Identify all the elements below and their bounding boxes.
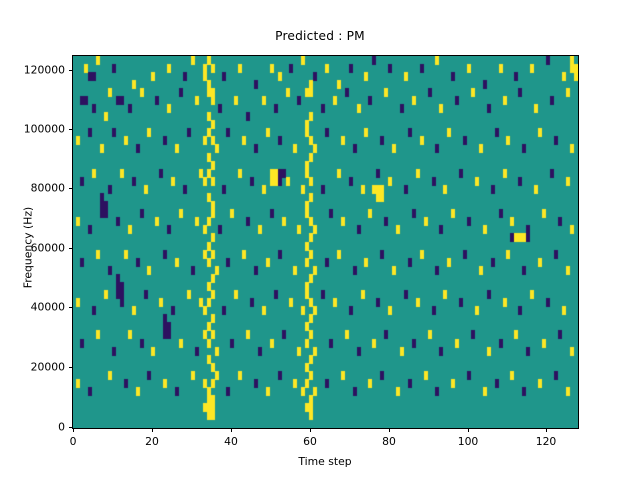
x-tick-label: 100 bbox=[458, 435, 479, 448]
y-tick-mark bbox=[69, 188, 73, 189]
x-tick-label: 60 bbox=[303, 435, 317, 448]
y-axis-label: Frequency (Hz) bbox=[22, 168, 35, 328]
y-tick-mark bbox=[69, 367, 73, 368]
y-tick-mark bbox=[69, 129, 73, 130]
heatmap-grid bbox=[73, 56, 578, 428]
x-tick-mark bbox=[231, 428, 232, 432]
x-tick-label: 80 bbox=[382, 435, 396, 448]
x-tick-mark bbox=[73, 428, 74, 432]
y-tick-label: 100000 bbox=[0, 123, 65, 136]
y-tick-mark bbox=[69, 70, 73, 71]
x-tick-mark bbox=[310, 428, 311, 432]
y-tick-mark bbox=[69, 307, 73, 308]
y-tick-mark bbox=[69, 427, 73, 428]
chart-title: Predicted : PM bbox=[0, 29, 640, 43]
x-tick-mark bbox=[468, 428, 469, 432]
y-tick-label: 0 bbox=[0, 421, 65, 434]
x-tick-label: 120 bbox=[536, 435, 557, 448]
y-tick-label: 120000 bbox=[0, 64, 65, 77]
x-tick-mark bbox=[152, 428, 153, 432]
x-tick-label: 0 bbox=[70, 435, 77, 448]
x-axis-label: Time step bbox=[72, 455, 578, 468]
x-tick-mark bbox=[546, 428, 547, 432]
heatmap-axes bbox=[72, 55, 579, 429]
x-tick-label: 20 bbox=[145, 435, 159, 448]
matplotlib-figure: Predicted : PM 1200001000008000060000400… bbox=[0, 0, 640, 480]
x-tick-label: 40 bbox=[224, 435, 238, 448]
x-tick-mark bbox=[389, 428, 390, 432]
y-tick-mark bbox=[69, 248, 73, 249]
y-tick-label: 20000 bbox=[0, 361, 65, 374]
